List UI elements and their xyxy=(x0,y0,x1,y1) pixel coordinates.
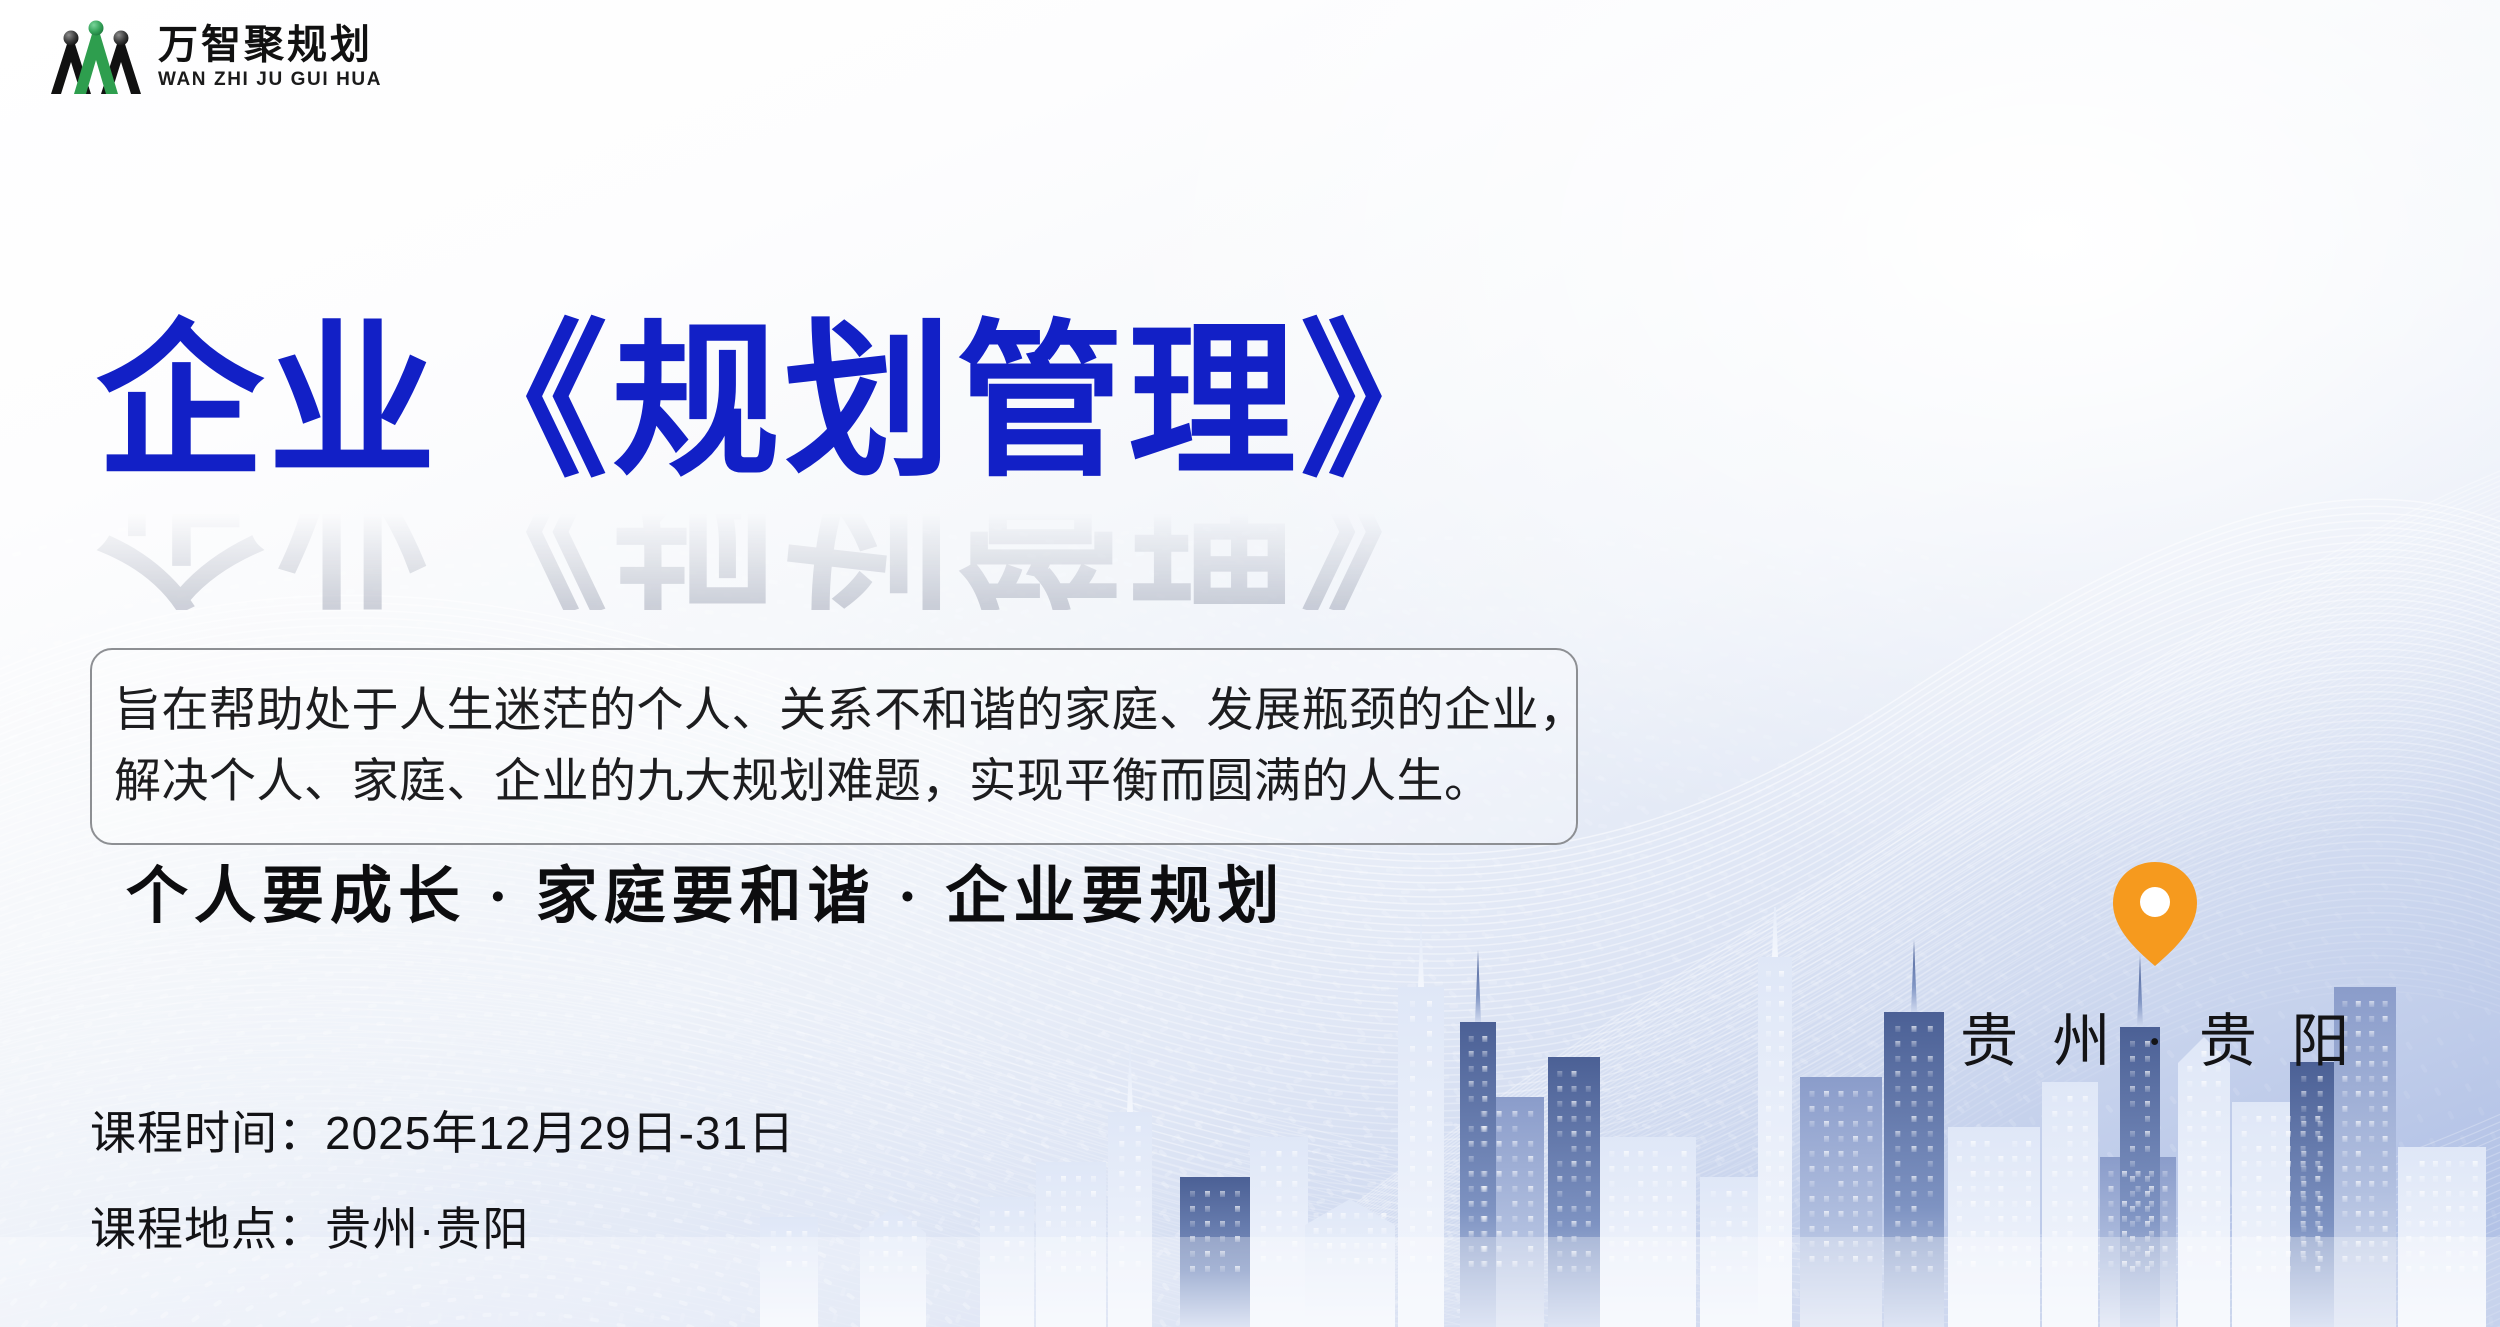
poster-canvas: 万智聚规划 WAN ZHI JU GUI HUA 企业《规划管理》 企业《规划管… xyxy=(0,0,2500,1327)
brand-name-cn: 万智聚规划 xyxy=(158,24,382,66)
location-badge: 贵 州 · 贵 阳 xyxy=(1950,860,2359,1078)
description-line-1: 旨在帮助处于人生迷茫的个人、关系不和谐的家庭、发展瓶颈的企业， xyxy=(114,676,1554,747)
three-people-logo-icon xyxy=(48,18,144,96)
course-place: 课程地点：贵州·贵阳 xyxy=(90,1206,795,1252)
brand-logo-text: 万智聚规划 WAN ZHI JU GUI HUA xyxy=(158,24,382,91)
course-time: 课程时间：2025年12月29日-31日 xyxy=(90,1110,795,1156)
brand-name-en: WAN ZHI JU GUI HUA xyxy=(158,69,382,91)
page-title-reflection: 企业《规划管理》 xyxy=(96,492,1472,610)
course-info-block: 课程时间：2025年12月29日-31日 课程地点：贵州·贵阳 xyxy=(90,1110,795,1252)
hero-title-block: 企业《规划管理》 企业《规划管理》 xyxy=(96,318,1472,610)
description-box: 旨在帮助处于人生迷茫的个人、关系不和谐的家庭、发展瓶颈的企业， 解决个人、家庭、… xyxy=(90,648,1578,845)
description-line-2: 解决个人、家庭、企业的九大规划难题，实现平衡而圆满的人生。 xyxy=(114,747,1554,818)
location-name: 贵 州 · 贵 阳 xyxy=(1950,994,2359,1078)
brand-logo[interactable]: 万智聚规划 WAN ZHI JU GUI HUA xyxy=(48,18,382,96)
page-title: 企业《规划管理》 xyxy=(96,318,1472,486)
map-pin-icon xyxy=(2109,860,2201,968)
tagline: 个人要成长 · 家庭要和谐 · 企业要规划 xyxy=(126,845,1285,935)
